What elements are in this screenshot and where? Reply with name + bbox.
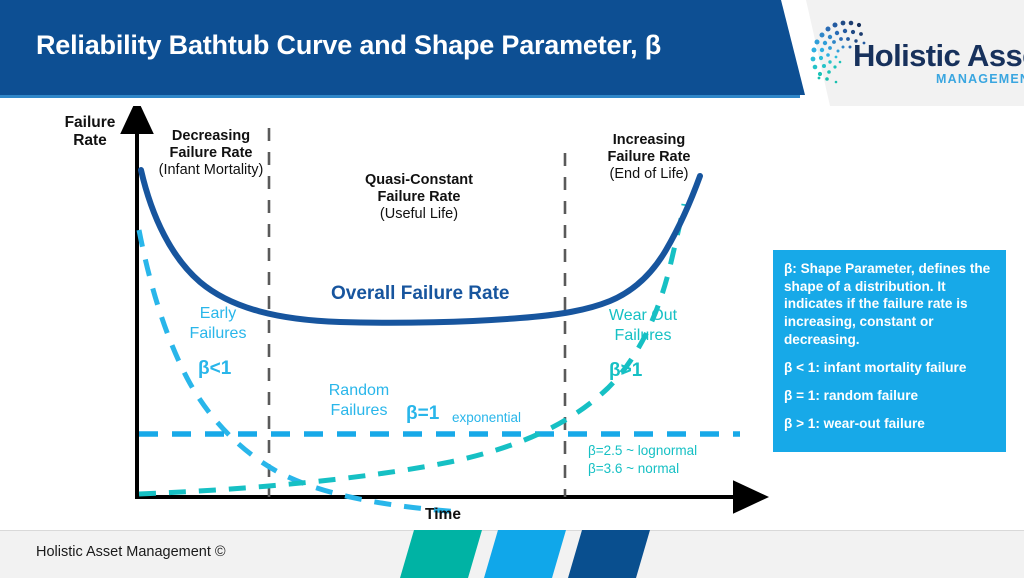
early-failures-line2: Failures bbox=[190, 325, 247, 342]
slide-root: Reliability Bathtub Curve and Shape Para… bbox=[0, 0, 1024, 578]
zone2-line3: (Useful Life) bbox=[343, 206, 495, 223]
footer-copyright: Holistic Asset Management © bbox=[36, 544, 226, 560]
x-axis-label: Time bbox=[400, 506, 486, 524]
zone-label-decreasing: Decreasing Failure Rate (Infant Mortalit… bbox=[152, 128, 270, 179]
zone-label-increasing: Increasing Failure Rate (End of Life) bbox=[587, 132, 711, 183]
wear-out-failures-label: Wear Out Failures bbox=[595, 306, 691, 346]
info-box-line-beta-eq-1: β = 1: random failure bbox=[784, 387, 995, 405]
header-underline bbox=[0, 95, 800, 98]
shape-parameter-info-box: β: Shape Parameter, defines the shape of… bbox=[773, 250, 1006, 452]
zone3-line3: (End of Life) bbox=[587, 166, 711, 183]
wear-out-line1: Wear Out bbox=[609, 307, 677, 324]
y-axis-label-line1: Failure bbox=[65, 114, 116, 131]
random-failures-line2: Failures bbox=[331, 402, 388, 419]
early-failures-label: Early Failures bbox=[178, 304, 258, 344]
zone-label-quasi-constant: Quasi-Constant Failure Rate (Useful Life… bbox=[343, 172, 495, 223]
wear-out-failures-beta: β>1 bbox=[609, 360, 642, 382]
wear-out-note-1: β=2.5 ~ lognormal bbox=[588, 442, 697, 460]
footer-decoration bbox=[400, 530, 640, 578]
page-title: Reliability Bathtub Curve and Shape Para… bbox=[36, 27, 776, 63]
footer-shape-teal bbox=[400, 530, 482, 578]
logo-subtitle: MANAGEMENT bbox=[936, 72, 1024, 86]
early-failures-line1: Early bbox=[200, 305, 236, 322]
random-failures-beta: β=1 bbox=[406, 403, 439, 425]
info-box-line-beta-lt-1: β < 1: infant mortality failure bbox=[784, 359, 995, 377]
brand-logo: Holistic Asset MANAGEMENT bbox=[805, 14, 1020, 96]
zone1-line2: Failure Rate bbox=[152, 145, 270, 162]
zone1-line1: Decreasing bbox=[152, 128, 270, 145]
info-box-paragraph: β: Shape Parameter, defines the shape of… bbox=[784, 260, 995, 348]
info-box-line-beta-gt-1: β > 1: wear-out failure bbox=[784, 415, 995, 433]
early-failures-beta: β<1 bbox=[198, 358, 231, 380]
random-failures-label: Random Failures bbox=[315, 381, 403, 421]
zone2-line2: Failure Rate bbox=[343, 189, 495, 206]
wear-out-note-2: β=3.6 ~ normal bbox=[588, 460, 679, 478]
logo-name: Holistic Asset bbox=[853, 38, 1024, 74]
zone3-line1: Increasing bbox=[587, 132, 711, 149]
y-axis-label-line2: Rate bbox=[73, 132, 107, 149]
random-failures-line1: Random bbox=[329, 382, 389, 399]
footer-shape-navy bbox=[568, 530, 650, 578]
random-failures-beta-note: exponential bbox=[452, 409, 521, 427]
zone3-line2: Failure Rate bbox=[587, 149, 711, 166]
footer-shape-blue bbox=[484, 530, 566, 578]
zone2-line1: Quasi-Constant bbox=[343, 172, 495, 189]
wear-out-line2: Failures bbox=[615, 327, 672, 344]
footer: Holistic Asset Management © bbox=[0, 530, 1024, 578]
y-axis-label: Failure Rate bbox=[50, 114, 130, 151]
zone1-line3: (Infant Mortality) bbox=[152, 162, 270, 179]
overall-failure-rate-label: Overall Failure Rate bbox=[331, 283, 509, 305]
